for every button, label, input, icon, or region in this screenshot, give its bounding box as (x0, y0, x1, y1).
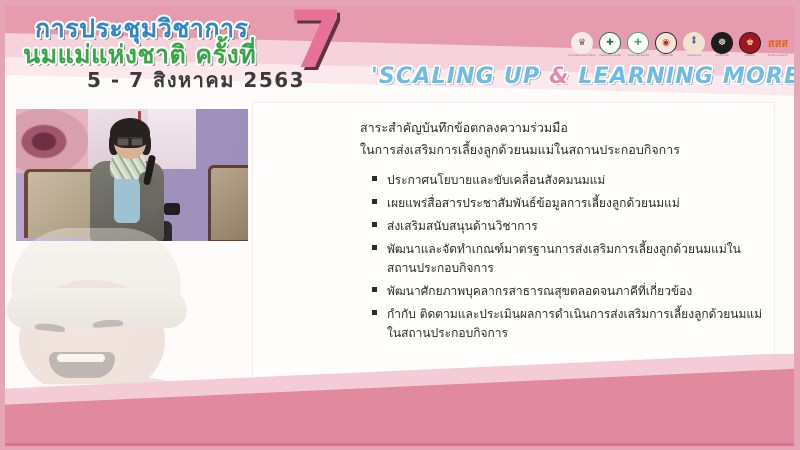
content-bullet-list: ประกาศนโยบายและขับเคลื่อนสังคมนมแม่ เผยแ… (372, 171, 767, 347)
list-item-label: ส่งเสริมสนับสนุนด้านวิชาการ (387, 219, 538, 233)
glasses-icon (117, 137, 143, 144)
logo-red-circle-emblem-icon: ♚ (739, 32, 761, 54)
logo-caption: กรมแรงงาน (679, 54, 709, 57)
logo-health-dept-green-icon: ✚ (627, 32, 649, 54)
logo-caption: มหาวิทยาลัย (707, 54, 737, 57)
list-item-label: กำกับ ติดตามและประเมินผลการดำเนินการส่งเ… (387, 307, 762, 340)
footer-band-edge (5, 443, 794, 446)
logo-garuda-emblem-icon: ༔ (683, 32, 705, 54)
chair-right (208, 165, 248, 241)
speaker-video-feed[interactable] (16, 109, 248, 241)
logo-caption: สถาบันพระบรมราชชนก (567, 54, 597, 57)
list-item: พัฒนาศักยภาพบุคลากรสาธารณสุขตลอดจนภาคีที… (372, 282, 767, 301)
logo-thaihealth-sss-icon: สสส (767, 32, 789, 54)
slide-page: การประชุมวิชาการ นมแม่แห่งชาติ ครั้งที่ … (5, 6, 794, 446)
logo-royal-college: ◉ ราชวิทยาลัย (655, 32, 677, 54)
logo-ministry-health-green-icon: ✚ (599, 32, 621, 54)
logo-ministry-health-green: ✚ กรมอนามัย และเด็ก (599, 32, 621, 54)
bullet-square-icon (372, 310, 377, 315)
list-item: ส่งเสริมสนับสนุนด้านวิชาการ (372, 217, 767, 236)
bullet-square-icon (372, 222, 377, 227)
bullet-square-icon (372, 176, 377, 181)
footer-band (5, 354, 794, 446)
backdrop-poster-left (16, 109, 96, 173)
logo-royal-college-icon: ◉ (655, 32, 677, 54)
logo-black-circle-emblem: ☸ มหาวิทยาลัย (711, 32, 733, 54)
slogan-ampersand: & (549, 64, 569, 89)
logo-caption: แพทยสภา (735, 54, 765, 57)
slogan-suffix: LEARNING MORE' (570, 64, 794, 89)
logo-thai-royal-emblem-icon: ♛ (571, 32, 593, 54)
list-item: ประกาศนโยบายและขับเคลื่อนสังคมนมแม่ (372, 171, 767, 190)
frame-bottom-border (0, 446, 800, 450)
frame-right-border (794, 0, 800, 450)
bullet-square-icon (372, 245, 377, 250)
slogan-prefix: 'SCALING UP (371, 64, 549, 89)
bullet-square-icon (372, 287, 377, 292)
logo-caption: กรมอนามัย และเด็ก (595, 54, 625, 57)
list-item: กำกับ ติดตามและประเมินผลการดำเนินการส่งเ… (372, 305, 767, 342)
list-item-label: พัฒนาและจัดทำเกณฑ์มาตรฐานการส่งเสริมการเ… (387, 242, 741, 275)
logo-black-circle-emblem-icon: ☸ (711, 32, 733, 54)
remote-clicker-icon (164, 203, 180, 215)
content-heading: สาระสำคัญบันทึกข้อตกลงความร่วมมือ ในการส… (360, 117, 760, 161)
logo-caption: กรมอนามัย สุขภาพ (623, 54, 653, 57)
logo-caption: สำนักงานกองทุนฯ (763, 54, 793, 57)
list-item-label: เผยแพร่สื่อสารประชาสัมพันธ์ข้อมูลการเลี้… (387, 196, 680, 210)
sponsor-logos: ♛ สถาบันพระบรมราชชนก ✚ กรมอนามัย และเด็ก… (571, 32, 789, 54)
conference-date: 5 - 7 สิงหาคม 2563 (87, 64, 305, 96)
logo-thaihealth-sss: สสส สำนักงานกองทุนฯ (767, 32, 789, 54)
list-item-label: พัฒนาศักยภาพบุคลากรสาธารณสุขตลอดจนภาคีที… (387, 284, 692, 298)
logo-caption: ราชวิทยาลัย (651, 54, 681, 57)
logo-health-dept-green: ✚ กรมอนามัย สุขภาพ (627, 32, 649, 54)
content-heading-line1: สาระสำคัญบันทึกข้อตกลงความร่วมมือ (360, 117, 760, 139)
logo-red-circle-emblem: ♚ แพทยสภา (739, 32, 761, 54)
list-item: เผยแพร่สื่อสารประชาสัมพันธ์ข้อมูลการเลี้… (372, 194, 767, 213)
presentation-slide: การประชุมวิชาการ นมแม่แห่งชาติ ครั้งที่ … (0, 0, 800, 450)
list-item: พัฒนาและจัดทำเกณฑ์มาตรฐานการส่งเสริมการเ… (372, 240, 767, 277)
edition-number: 7 (289, 6, 343, 80)
bullet-square-icon (372, 199, 377, 204)
logo-thai-royal-emblem: ♛ สถาบันพระบรมราชชนก (571, 32, 593, 54)
content-heading-line2: ในการส่งเสริมการเลี้ยงลูกด้วยนมแม่ในสถาน… (360, 139, 760, 161)
list-item-label: ประกาศนโยบายและขับเคลื่อนสังคมนมแม่ (387, 173, 605, 187)
conference-slogan: 'SCALING UP & LEARNING MORE' (371, 64, 794, 89)
logo-garuda-emblem: ༔ กรมแรงงาน (683, 32, 705, 54)
